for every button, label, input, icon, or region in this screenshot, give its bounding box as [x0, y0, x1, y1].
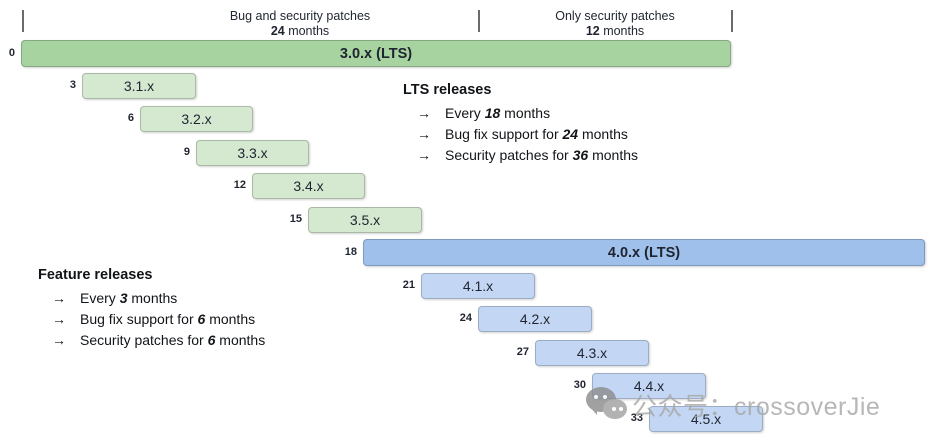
legend-row-text: Bug fix support for 6 months: [80, 309, 255, 330]
phase-duration-value: 24: [271, 24, 285, 38]
release-label: 3.5.x: [350, 212, 380, 228]
month-label-30: 30: [560, 379, 586, 391]
legend-row: →Bug fix support for 6 months: [38, 309, 265, 330]
legend-row-text: Every 3 months: [80, 288, 177, 309]
release-label: 3.0.x (LTS): [340, 46, 412, 62]
phase-label-bug-and-security: Bug and security patches24 months: [200, 9, 400, 39]
release-label: 4.0.x (LTS): [608, 245, 680, 261]
legend-row-text: Security patches for 6 months: [80, 330, 265, 351]
month-label-6: 6: [108, 112, 134, 124]
month-label-18: 18: [331, 246, 357, 258]
wechat-bubble-tail: [590, 407, 597, 415]
legend-row-text: Bug fix support for 24 months: [445, 124, 628, 145]
legend-row: →Bug fix support for 24 months: [403, 124, 638, 145]
release-label: 4.1.x: [463, 278, 493, 294]
release-bar-3.0.x[interactable]: 3.0.x (LTS): [21, 40, 731, 67]
release-bar-4.1.x[interactable]: 4.1.x: [421, 273, 535, 299]
month-label-0: 0: [0, 47, 15, 59]
legend-row-text: Security patches for 36 months: [445, 145, 638, 166]
release-label: 4.2.x: [520, 311, 550, 327]
release-label: 4.4.x: [634, 378, 664, 394]
axis-tick-36: [731, 10, 733, 32]
phase-duration: 12 months: [520, 24, 710, 39]
arrow-right-icon: →: [403, 124, 445, 145]
release-label: 3.2.x: [181, 111, 211, 127]
month-label-21: 21: [389, 279, 415, 291]
legend-feature-releases: Feature releases→Every 3 months→Bug fix …: [38, 266, 265, 351]
release-bar-4.2.x[interactable]: 4.2.x: [478, 306, 592, 332]
release-label: 4.5.x: [691, 411, 721, 427]
legend-row: →Security patches for 36 months: [403, 145, 638, 166]
release-bar-3.4.x[interactable]: 3.4.x: [252, 173, 365, 199]
phase-duration-value: 12: [586, 24, 600, 38]
month-label-12: 12: [220, 179, 246, 191]
legend-row-text: Every 18 months: [445, 103, 550, 124]
month-label-9: 9: [164, 146, 190, 158]
release-bar-4.4.x[interactable]: 4.4.x: [592, 373, 706, 399]
arrow-right-icon: →: [38, 288, 80, 309]
arrow-right-icon: →: [403, 103, 445, 124]
release-bar-4.0.x[interactable]: 4.0.x (LTS): [363, 239, 925, 266]
release-bar-3.1.x[interactable]: 3.1.x: [82, 73, 196, 99]
month-label-33: 33: [617, 412, 643, 424]
axis-tick-24: [478, 10, 480, 32]
month-label-3: 3: [50, 79, 76, 91]
legend-row: →Every 3 months: [38, 288, 265, 309]
release-timeline-diagram: Bug and security patches24 monthsOnly se…: [0, 0, 945, 440]
month-label-27: 27: [503, 346, 529, 358]
release-bar-4.5.x[interactable]: 4.5.x: [649, 406, 763, 432]
release-label: 4.3.x: [577, 345, 607, 361]
arrow-right-icon: →: [38, 330, 80, 351]
phase-duration: 24 months: [200, 24, 400, 39]
axis-tick-0: [22, 10, 24, 32]
wechat-dot: [619, 407, 623, 411]
release-label: 3.3.x: [237, 145, 267, 161]
release-bar-3.3.x[interactable]: 3.3.x: [196, 140, 309, 166]
phase-duration-unit: months: [600, 24, 644, 38]
legend-title-feature-releases: Feature releases: [38, 266, 265, 284]
legend-row: →Every 18 months: [403, 103, 638, 124]
release-bar-4.3.x[interactable]: 4.3.x: [535, 340, 649, 366]
release-label: 3.4.x: [293, 178, 323, 194]
wechat-dot: [612, 407, 616, 411]
month-label-15: 15: [276, 213, 302, 225]
phase-label-only-security: Only security patches12 months: [520, 9, 710, 39]
month-label-24: 24: [446, 312, 472, 324]
arrow-right-icon: →: [38, 309, 80, 330]
release-bar-3.2.x[interactable]: 3.2.x: [140, 106, 253, 132]
arrow-right-icon: →: [403, 145, 445, 166]
legend-title-lts-releases: LTS releases: [403, 81, 638, 99]
legend-lts-releases: LTS releases→Every 18 months→Bug fix sup…: [403, 81, 638, 166]
release-label: 3.1.x: [124, 78, 154, 94]
phase-duration-unit: months: [285, 24, 329, 38]
release-bar-3.5.x[interactable]: 3.5.x: [308, 207, 422, 233]
phase-name: Bug and security patches: [230, 9, 370, 23]
legend-row: →Security patches for 6 months: [38, 330, 265, 351]
phase-name: Only security patches: [555, 9, 675, 23]
